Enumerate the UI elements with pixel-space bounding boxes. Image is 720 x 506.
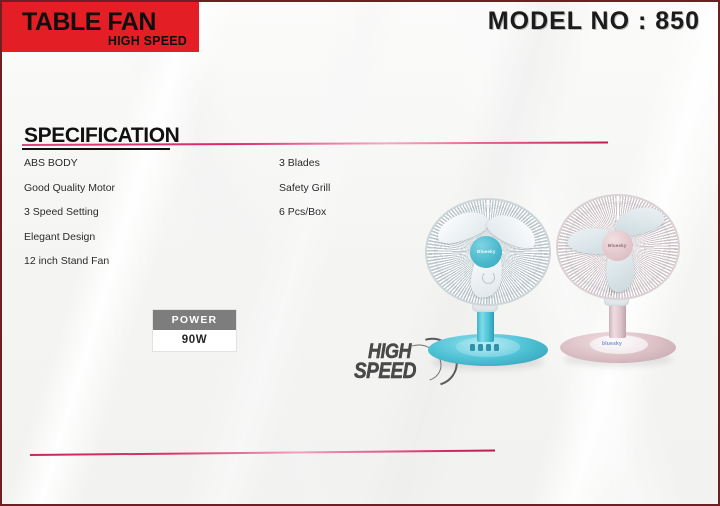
spec-item: Good Quality Motor — [24, 182, 115, 207]
power-badge-value: 90W — [153, 330, 236, 351]
specification-list-right: 3 Blades Safety Grill 6 Pcs/Box — [279, 157, 330, 231]
product-spec-sheet: TABLE FAN HIGH SPEED MODEL NO : 850 SPEC… — [0, 0, 720, 506]
product-image-blue-fan: Bluesky — [420, 198, 555, 376]
fan-hub-brand-logo: Bluesky — [608, 243, 627, 248]
fan-hub: Bluesky — [602, 230, 633, 261]
specification-heading-underline — [22, 148, 170, 150]
title-banner: TABLE FAN HIGH SPEED — [2, 2, 199, 52]
fan-base-brand-badge: bluesky — [602, 341, 622, 347]
spec-item: 3 Speed Setting — [24, 206, 115, 231]
fan-hub-brand-logo: Bluesky — [477, 249, 496, 254]
power-badge: POWER 90W — [153, 310, 236, 351]
page-subtitle: HIGH SPEED — [108, 34, 187, 48]
spec-item: 3 Blades — [279, 157, 330, 182]
specification-list-left: ABS BODY Good Quality Motor 3 Speed Sett… — [24, 157, 115, 280]
power-badge-label: POWER — [153, 310, 236, 330]
bottom-accent-rule — [30, 450, 495, 456]
fan-speed-button[interactable] — [470, 344, 475, 351]
spec-item: Safety Grill — [279, 182, 330, 207]
product-image-pink-fan: bluesky Bluesky — [550, 194, 685, 372]
model-number: MODEL NO : 850 — [488, 7, 700, 36]
spec-item: 12 inch Stand Fan — [24, 255, 115, 280]
page-title: TABLE FAN — [22, 8, 156, 37]
fan-speed-button[interactable] — [478, 344, 483, 351]
spec-item: Elegant Design — [24, 231, 115, 256]
fan-speed-button[interactable] — [494, 344, 499, 351]
fan-speed-button[interactable] — [486, 344, 491, 351]
high-speed-logo-line2: SPEED — [354, 359, 416, 385]
fan-rotation-knob-icon[interactable] — [482, 271, 495, 284]
spec-item: 6 Pcs/Box — [279, 206, 330, 231]
spec-item: ABS BODY — [24, 157, 115, 182]
fan-hub: Bluesky — [470, 236, 502, 268]
specification-heading: SPECIFICATION — [24, 124, 179, 148]
